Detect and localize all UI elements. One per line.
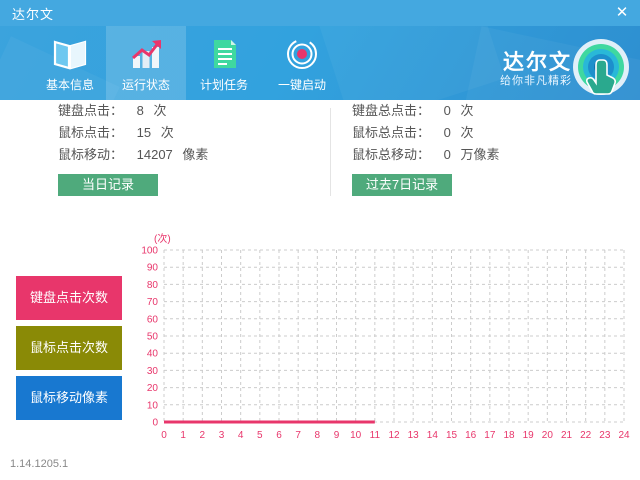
bar-chart-arrow-icon (127, 36, 165, 72)
chart-xtick-label: 13 (408, 430, 420, 441)
chart-xtick-label: 9 (334, 430, 340, 441)
chart-xtick-label: 4 (238, 430, 244, 441)
chart-ylabel: (次) (154, 232, 171, 245)
today-record-button[interactable]: 当日记录 (58, 174, 158, 196)
stat-unit: 像素 (182, 144, 208, 163)
stat-label: 鼠标点击： (58, 122, 123, 141)
brand-logo: 达尔文 给你非凡精彩 (472, 38, 632, 98)
stat-row: 键盘点击： 8 次 (58, 100, 208, 122)
stat-value: 15 (127, 125, 157, 140)
today-stats-panel: 键盘点击： 8 次 鼠标点击： 15 次 鼠标移动： 14207 像素 当日记录 (58, 100, 208, 196)
chart-ytick-label: 70 (147, 297, 159, 308)
stats-section: 键盘点击： 8 次 鼠标点击： 15 次 鼠标移动： 14207 像素 当日记录… (0, 100, 640, 208)
legend-keyboard-clicks-button[interactable]: 键盘点击次数 (16, 276, 122, 320)
chart-ytick-label: 60 (147, 314, 159, 325)
stat-value: 8 (127, 103, 150, 118)
stat-unit: 次 (461, 100, 474, 119)
total-stats-panel: 键盘总点击： 0 次 鼠标总点击： 0 次 鼠标总移动： 0 万像素 过去7日记… (352, 100, 500, 196)
chart-xtick-label: 18 (503, 430, 515, 441)
chart-xtick-label: 6 (276, 430, 282, 441)
chart-ytick-label: 40 (147, 349, 159, 360)
tab-scheduled-tasks[interactable]: 计划任务 (184, 26, 264, 100)
version-label: 1.14.1205.1 (10, 458, 68, 470)
chart-ytick-label: 20 (147, 383, 159, 394)
stat-value: 14207 (127, 147, 179, 162)
chart-xtick-label: 14 (427, 430, 439, 441)
stat-value: 0 (434, 103, 457, 118)
stat-row: 鼠标总移动： 0 万像素 (352, 144, 500, 166)
document-icon (205, 36, 243, 72)
title-bar: 达尔文 ✕ (0, 0, 640, 26)
chart-xtick-label: 22 (580, 430, 592, 441)
stat-row: 鼠标点击： 15 次 (58, 122, 208, 144)
chart-xtick-label: 3 (219, 430, 225, 441)
stat-label: 鼠标总移动： (352, 144, 430, 163)
stat-unit: 次 (161, 122, 174, 141)
stat-label: 鼠标总点击： (352, 122, 430, 141)
chart-xtick-label: 19 (523, 430, 535, 441)
chart-xtick-label: 5 (257, 430, 263, 441)
stat-value: 0 (434, 147, 457, 162)
stat-label: 键盘总点击： (352, 100, 430, 119)
stat-unit: 次 (154, 100, 167, 119)
app-window: 达尔文 ✕ 基本信息 (0, 0, 640, 480)
open-book-icon (51, 36, 89, 72)
tab-one-key-start[interactable]: 一键启动 (262, 26, 342, 100)
chart-xtick-label: 11 (370, 430, 381, 441)
chart-ytick-label: 80 (147, 280, 159, 291)
chart-xtick-label: 16 (465, 430, 477, 441)
chart-legend-buttons: 键盘点击次数 鼠标点击次数 鼠标移动像素 (16, 276, 122, 426)
chart-xtick-label: 1 (180, 430, 186, 441)
tab-running-status[interactable]: 运行状态 (106, 26, 186, 100)
close-icon[interactable]: ✕ (612, 3, 632, 23)
chart-ytick-label: 30 (147, 366, 159, 377)
tab-label: 计划任务 (184, 76, 264, 93)
chart-xtick-label: 8 (315, 430, 321, 441)
activity-chart: (次)0102030405060708090100012345678910111… (130, 228, 630, 453)
stat-label: 键盘点击： (58, 100, 123, 119)
window-title: 达尔文 (12, 4, 54, 23)
stat-row: 鼠标移动： 14207 像素 (58, 144, 208, 166)
chart-ytick-label: 50 (147, 332, 159, 343)
stat-unit: 万像素 (461, 144, 500, 163)
chart-xtick-label: 12 (388, 430, 400, 441)
legend-mouse-clicks-button[interactable]: 鼠标点击次数 (16, 326, 122, 370)
chart-xtick-label: 7 (295, 430, 301, 441)
chart-ytick-label: 0 (152, 418, 158, 429)
stat-unit: 次 (461, 122, 474, 141)
chart-xtick-label: 2 (200, 430, 206, 441)
stat-row: 键盘总点击： 0 次 (352, 100, 500, 122)
stats-divider (330, 108, 331, 196)
chart-xtick-label: 10 (350, 430, 362, 441)
chart-xtick-label: 20 (542, 430, 554, 441)
tab-basic-info[interactable]: 基本信息 (30, 26, 110, 100)
chart-ytick-label: 10 (147, 400, 159, 411)
hand-click-circle-icon (572, 38, 630, 96)
stat-row: 鼠标总点击： 0 次 (352, 122, 500, 144)
stat-value: 0 (434, 125, 457, 140)
chart-ytick-label: 90 (147, 263, 159, 274)
chart-xtick-label: 23 (599, 430, 611, 441)
tab-label: 基本信息 (30, 76, 110, 93)
app-header: 基本信息 运行状态 (0, 26, 640, 100)
stat-label: 鼠标移动： (58, 144, 123, 163)
past-7-days-record-button[interactable]: 过去7日记录 (352, 174, 452, 196)
tab-label: 运行状态 (106, 76, 186, 93)
brand-tagline: 给你非凡精彩 (472, 72, 572, 88)
tab-label: 一键启动 (262, 76, 342, 93)
chart-xtick-label: 24 (618, 430, 630, 441)
chart-ytick-label: 100 (141, 246, 158, 257)
legend-mouse-move-button[interactable]: 鼠标移动像素 (16, 376, 122, 420)
chart-xtick-label: 15 (446, 430, 458, 441)
target-circle-icon (283, 36, 321, 72)
chart-xtick-label: 21 (561, 430, 573, 441)
chart-xtick-label: 0 (161, 430, 167, 441)
chart-xtick-label: 17 (484, 430, 496, 441)
